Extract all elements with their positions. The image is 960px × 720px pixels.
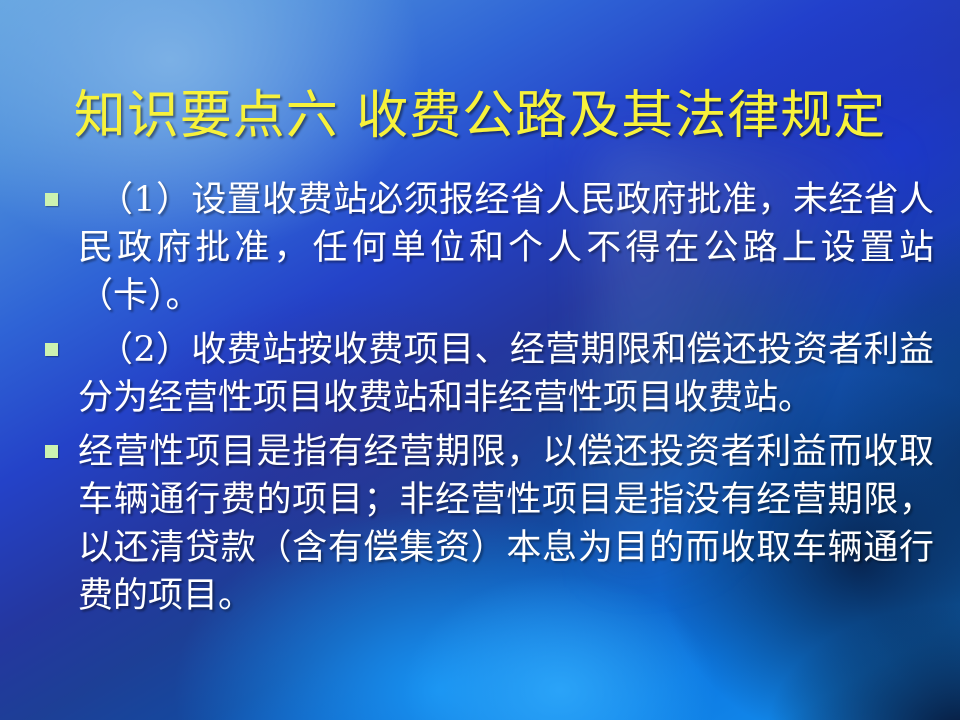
bullet-item: （1）设置收费站必须报经省人民政府批准，未经省人民政府批准，任何单位和个人不得在… — [34, 176, 934, 320]
bullet-item: 经营性项目是指有经营期限，以偿还投资者利益而收取车辆通行费的项目；非经营性项目是… — [34, 428, 934, 620]
bullet-item: （2）收费站按收费项目、经营期限和偿还投资者利益分为经营性项目收费站和非经营性项… — [34, 326, 934, 422]
square-bullet-icon — [45, 193, 58, 206]
slide-body: （1）设置收费站必须报经省人民政府批准，未经省人民政府批准，任何单位和个人不得在… — [34, 176, 934, 626]
bullet-text: （1）设置收费站必须报经省人民政府批准，未经省人民政府批准，任何单位和个人不得在… — [78, 176, 934, 320]
bullet-text: 经营性项目是指有经营期限，以偿还投资者利益而收取车辆通行费的项目；非经营性项目是… — [78, 428, 934, 620]
square-bullet-icon — [45, 343, 58, 356]
square-bullet-icon — [45, 445, 58, 458]
presentation-slide: 知识要点六 收费公路及其法律规定 （1）设置收费站必须报经省人民政府批准，未经省… — [0, 0, 960, 720]
bullet-text: （2）收费站按收费项目、经营期限和偿还投资者利益分为经营性项目收费站和非经营性项… — [78, 326, 934, 422]
slide-title: 知识要点六 收费公路及其法律规定 — [0, 81, 960, 151]
